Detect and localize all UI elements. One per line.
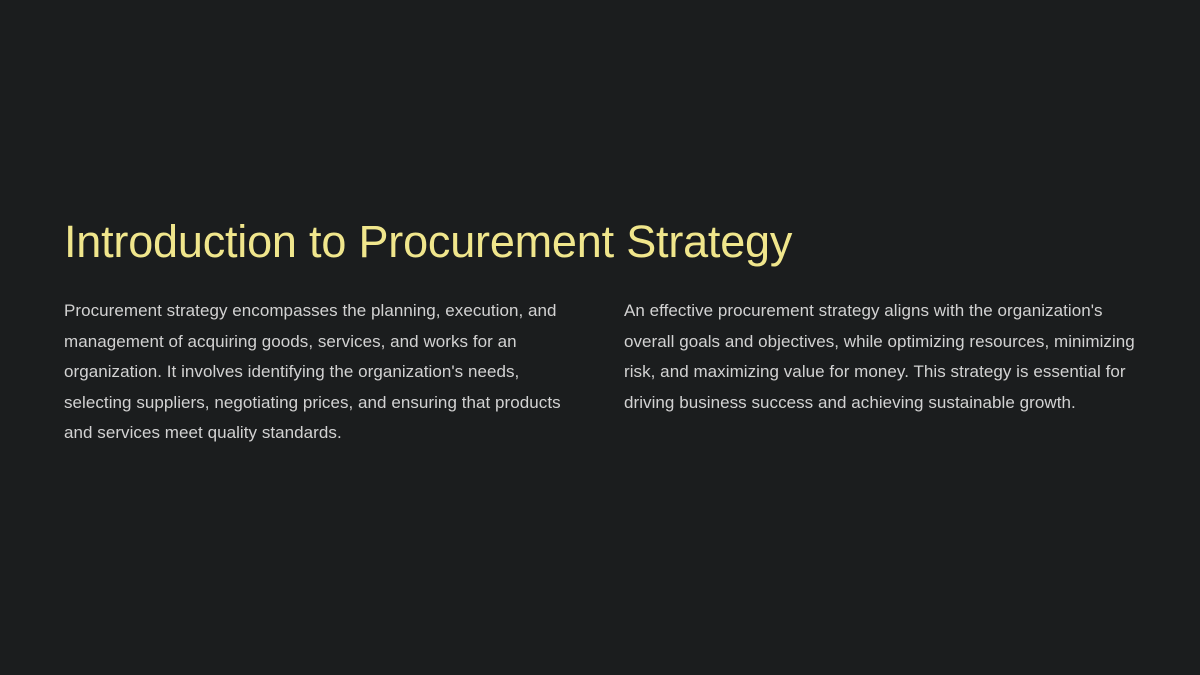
body-paragraph-right: An effective procurement strategy aligns… — [624, 296, 1136, 418]
body-columns: Procurement strategy encompasses the pla… — [64, 296, 1136, 449]
body-column-right: An effective procurement strategy aligns… — [624, 296, 1136, 418]
page-title: Introduction to Procurement Strategy — [64, 217, 792, 267]
body-column-left: Procurement strategy encompasses the pla… — [64, 296, 576, 449]
presentation-slide: Introduction to Procurement Strategy Pro… — [0, 0, 1200, 675]
body-paragraph-left: Procurement strategy encompasses the pla… — [64, 296, 576, 449]
